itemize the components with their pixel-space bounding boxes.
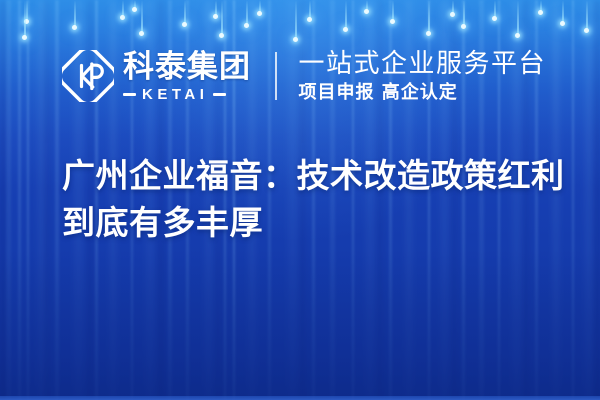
light-streak-icon — [122, 0, 124, 18]
page-title-line-1: 广州企业福音：技术改造政策红利 — [62, 152, 567, 199]
light-streak-icon — [141, 0, 143, 34]
light-band — [18, 0, 21, 400]
dash-right-icon — [213, 93, 226, 96]
shadow-band — [0, 0, 6, 400]
light-streak-icon — [428, 0, 430, 34]
brand-logo[interactable]: 科泰集团 KETAI — [62, 44, 251, 108]
light-streak-icon — [74, 0, 76, 28]
light-streak-icon — [392, 0, 394, 22]
light-streak-icon — [221, 0, 223, 36]
ketai-diamond-kp-monogram-icon — [62, 50, 114, 102]
light-band — [38, 0, 45, 400]
light-band — [55, 0, 59, 400]
brand-name-english: KETAI — [142, 87, 208, 102]
light-band — [572, 0, 574, 400]
light-streak-icon — [26, 0, 28, 22]
brand-logo-text: 科泰集团 KETAI — [123, 48, 251, 104]
light-streak-icon — [562, 0, 564, 24]
light-band — [585, 0, 593, 400]
light-streak-icon — [540, 0, 542, 13]
light-band — [27, 0, 29, 400]
light-band — [6, 0, 11, 400]
brand-name-english-row: KETAI — [123, 87, 251, 102]
light-streak-icon — [184, 0, 186, 25]
light-streak-icon — [452, 0, 454, 15]
tagline-main: 一站式企业服务平台 — [299, 49, 547, 79]
shadow-band — [44, 0, 49, 400]
bottom-edge-strip — [0, 396, 600, 400]
light-streak-icon — [366, 0, 368, 12]
banner-header: 科泰集团 KETAI 一站式企业服务平台 项目申报 高企认定 — [62, 44, 546, 108]
light-streak-icon — [463, 0, 465, 27]
light-streak-icon — [259, 0, 261, 14]
light-streak-icon — [586, 0, 588, 31]
light-streak-icon — [295, 0, 297, 40]
bottom-shade-overlay — [0, 250, 600, 400]
brand-name-chinese: 科泰集团 — [123, 51, 251, 84]
light-streak-icon — [517, 0, 519, 36]
light-streak-icon — [494, 0, 496, 19]
page-title-line-2: 到底有多丰厚 — [62, 199, 567, 246]
light-streak-icon — [345, 0, 347, 30]
page-title: 广州企业福音：技术改造政策红利 到底有多丰厚 — [62, 152, 567, 246]
light-streak-icon — [309, 0, 311, 20]
light-streak-icon — [246, 0, 248, 26]
shadow-band — [594, 0, 600, 400]
tagline-sub: 项目申报 高企认定 — [299, 82, 547, 104]
promo-banner: 科泰集团 KETAI 一站式企业服务平台 项目申报 高企认定 广州企业福音：技术… — [0, 0, 600, 400]
light-streak-icon — [134, 0, 136, 10]
dash-left-icon — [123, 93, 136, 96]
light-streak-icon — [24, 0, 26, 38]
light-streak-icon — [215, 0, 217, 17]
tagline-block: 一站式企业服务平台 项目申报 高企认定 — [299, 46, 547, 106]
vertical-divider-icon — [275, 52, 277, 100]
